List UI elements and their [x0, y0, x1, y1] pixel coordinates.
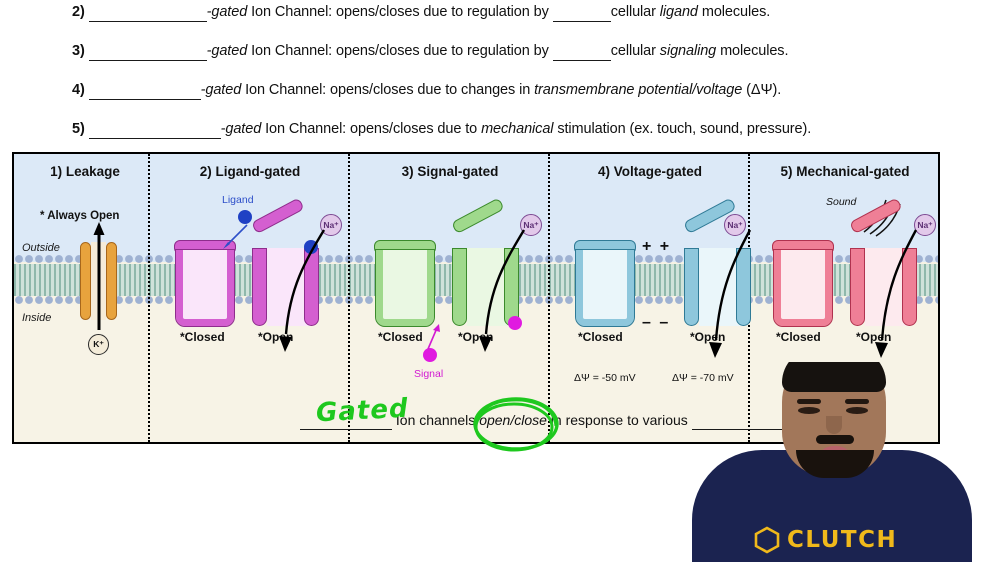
column-title-ligand: 2) Ligand-gated	[152, 164, 348, 179]
ligand-closed-body	[176, 250, 234, 326]
question-keyword: mechanical	[481, 121, 553, 137]
positive-charges: + +	[642, 238, 671, 256]
column-title-signal: 3) Signal-gated	[352, 164, 548, 179]
question-number: 4)	[72, 82, 85, 98]
label-outside: Outside	[22, 242, 60, 254]
question-number: 2)	[72, 4, 85, 20]
answer-blank-2[interactable]	[553, 44, 611, 61]
mechanical-closed-body	[774, 250, 832, 326]
column-title-leakage: 1) Leakage	[22, 164, 148, 179]
signal-open-left-wall	[452, 248, 467, 326]
gated-suffix: -gated	[221, 121, 262, 137]
question-tail: (ΔΨ).	[742, 82, 781, 98]
presenter-eye-right	[846, 407, 868, 414]
brand-logo-text: CLUTCH	[787, 527, 897, 553]
column-divider-3	[548, 154, 550, 442]
leakage-channel-left-helix	[80, 242, 91, 320]
question-keyword: signaling	[660, 43, 716, 59]
answer-blank-2[interactable]	[553, 5, 611, 22]
signal-closed-body	[376, 250, 434, 326]
question-tail: molecules.	[698, 4, 770, 20]
answer-blank[interactable]	[89, 122, 221, 139]
question-text-2: cellular	[611, 4, 660, 20]
ligand-binding-arrow	[220, 222, 250, 252]
presenter-video-overlay[interactable]: CLUTCH	[656, 362, 1000, 562]
column-title-voltage: 4) Voltage-gated	[552, 164, 748, 179]
gated-suffix: -gated	[207, 43, 248, 59]
mechanical-open-left-wall	[850, 248, 865, 326]
negative-charges: – –	[642, 314, 670, 332]
potassium-flux-arrow	[92, 222, 106, 332]
question-line-5: 5) -gated Ion Channel: opens/closes due …	[72, 121, 992, 139]
presenter-eye-left	[798, 407, 820, 414]
question-line-3: 3) -gated Ion Channel: opens/closes due …	[72, 43, 992, 61]
question-line-4: 4) -gated Ion Channel: opens/closes due …	[72, 82, 992, 100]
gated-suffix: -gated	[201, 82, 242, 98]
answer-blank[interactable]	[89, 83, 201, 100]
summary-circled-term: open/close	[479, 412, 547, 428]
question-text: Ion Channel: opens/closes due to	[261, 121, 481, 137]
column-divider-1	[148, 154, 150, 442]
handwritten-answer-gated: Gated	[315, 394, 409, 429]
mechanical-closed-state: *Closed	[776, 330, 821, 344]
sodium-influx-arrow-voltage	[698, 226, 758, 362]
presenter-mustache	[816, 435, 854, 444]
always-open-note: * Always Open	[40, 210, 119, 222]
question-tail: molecules.	[716, 43, 788, 59]
question-number: 3)	[72, 43, 85, 59]
signal-binding-arrow	[422, 322, 444, 352]
question-keyword: transmembrane potential/voltage	[534, 82, 742, 98]
presenter-brow-left	[797, 399, 821, 404]
question-text: Ion Channel: opens/closes due to regulat…	[247, 43, 553, 59]
presenter-nose	[826, 416, 842, 434]
presenter-brow-right	[845, 399, 869, 404]
answer-blank[interactable]	[89, 5, 207, 22]
sodium-influx-arrow-mechanical	[864, 226, 924, 362]
question-number: 5)	[72, 121, 85, 137]
sodium-influx-arrow-signal	[466, 226, 532, 356]
signal-label: Signal	[414, 368, 443, 380]
leakage-channel-right-helix	[106, 242, 117, 320]
hexagon-icon	[754, 526, 780, 554]
question-line-2: 2) -gated Ion Channel: opens/closes due …	[72, 4, 992, 22]
sodium-influx-arrow-ligand	[266, 226, 332, 356]
ligand-closed-state: *Closed	[180, 330, 225, 344]
brand-logo: CLUTCH	[754, 526, 897, 554]
ion-badge-potassium: K⁺	[88, 334, 109, 355]
sound-label: Sound	[826, 196, 856, 208]
question-text: Ion Channel: opens/closes due to regulat…	[247, 4, 553, 20]
question-text: Ion Channel: opens/closes due to changes…	[241, 82, 534, 98]
answer-blank[interactable]	[89, 44, 207, 61]
signal-closed-state: *Closed	[378, 330, 423, 344]
presenter-hair	[782, 362, 886, 392]
membrane-potential-closed: ΔΨ = -50 mV	[574, 372, 636, 384]
question-tail: stimulation (ex. touch, sound, pressure)…	[553, 121, 811, 137]
question-text-2: cellular	[611, 43, 660, 59]
gated-suffix: -gated	[207, 4, 248, 20]
question-list: 2) -gated Ion Channel: opens/closes due …	[0, 0, 1000, 148]
ligand-open-left-wall	[252, 248, 267, 326]
label-inside: Inside	[22, 312, 51, 324]
voltage-closed-body	[576, 250, 634, 326]
question-keyword: ligand	[660, 4, 698, 20]
column-title-mechanical: 5) Mechanical-gated	[752, 164, 938, 179]
voltage-open-left-wall	[684, 248, 699, 326]
ligand-label: Ligand	[222, 194, 254, 206]
voltage-closed-state: *Closed	[578, 330, 623, 344]
